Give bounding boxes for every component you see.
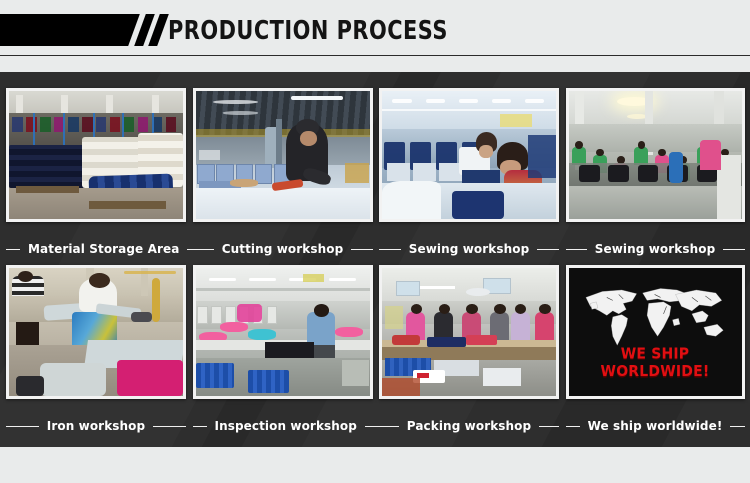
photo-detail: [249, 278, 275, 281]
photo-detail: [265, 342, 314, 357]
photo-caption: Inspection workshop: [193, 415, 373, 437]
caption-rule-right: [730, 426, 744, 427]
caption-rule-left: [379, 426, 399, 427]
photo-detail: [16, 376, 44, 396]
caption-rule-right: [723, 249, 744, 250]
gallery-cell[interactable]: Sewing workshop: [566, 88, 745, 262]
gallery-cell[interactable]: Packing workshop: [379, 265, 559, 439]
photo-detail: [426, 99, 445, 103]
photo-detail: [196, 188, 370, 219]
caption-rule-right: [351, 249, 372, 250]
photo-detail: [12, 117, 22, 132]
caption-label-cutting-workshop: Cutting workshop: [222, 242, 344, 256]
photo-detail: [196, 129, 370, 137]
caption-label-packing-workshop: Packing workshop: [407, 419, 531, 433]
caption-label-material-storage-area: Material Storage Area: [28, 242, 179, 256]
photo-detail: [466, 335, 497, 345]
photo-detail: [396, 281, 420, 296]
page-header: PRODUCTION PROCESS: [0, 0, 750, 56]
photo-scene: [9, 91, 183, 219]
photo-caption: Sewing workshop: [566, 238, 745, 260]
photo-detail: [230, 179, 258, 187]
photo-detail: [131, 312, 152, 322]
process-photo-material-storage-area[interactable]: [6, 88, 186, 222]
photo-detail: [329, 278, 355, 281]
photo-caption: We ship worldwide!: [566, 415, 745, 437]
photo-detail: [209, 278, 235, 281]
photo-scene: [569, 91, 742, 219]
gallery-panel: Material Storage AreaCutting workshopSew…: [0, 72, 750, 447]
caption-rule-right: [365, 426, 379, 427]
photo-detail: [124, 117, 134, 132]
photo-detail: [314, 304, 330, 317]
caption-rule-left: [6, 249, 20, 250]
photo-detail: [483, 368, 521, 386]
photo-detail: [342, 360, 370, 386]
photo-scene: [196, 268, 370, 396]
photo-canvas: WE SHIP WORLDWIDE!: [569, 268, 742, 396]
process-gallery-grid: Material Storage AreaCutting workshopSew…: [0, 72, 750, 447]
photo-detail: [452, 191, 504, 219]
photo-detail: [166, 117, 176, 132]
caption-rule-right: [537, 249, 559, 250]
photo-detail: [220, 322, 248, 332]
photo-canvas: [9, 268, 183, 396]
photo-scene: [382, 268, 556, 396]
photo-detail: [535, 312, 554, 343]
photo-detail: [335, 327, 363, 337]
photo-detail: [382, 181, 441, 219]
page-title: PRODUCTION PROCESS: [168, 12, 448, 52]
photo-detail: [223, 111, 258, 114]
photo-detail: [303, 274, 324, 282]
photo-detail: [345, 163, 369, 183]
photo-detail: [152, 278, 161, 322]
ship-worldwide-text: WE SHIP WORLDWIDE!: [569, 346, 742, 381]
photo-detail: [479, 145, 493, 158]
process-photo-iron-workshop[interactable]: [6, 265, 186, 399]
photo-detail: [387, 163, 410, 181]
caption-rule-left: [566, 426, 580, 427]
photo-canvas: [569, 91, 742, 219]
photo-detail: [411, 304, 422, 314]
photo-detail: [124, 271, 176, 275]
photo-detail: [494, 304, 505, 314]
photo-detail: [237, 304, 261, 322]
photo-detail: [16, 186, 79, 194]
process-photo-we-ship-worldwide[interactable]: WE SHIP WORLDWIDE!: [566, 265, 745, 399]
photo-detail: [89, 201, 166, 209]
photo-detail: [392, 335, 420, 345]
photo-detail: [248, 329, 276, 339]
photo-caption: Packing workshop: [379, 415, 559, 437]
photo-detail: [96, 117, 106, 132]
photo-detail: [300, 131, 317, 146]
caption-label-sewing-workshop-2: Sewing workshop: [595, 242, 716, 256]
photo-caption: Iron workshop: [6, 415, 186, 437]
header-accent-bar: [0, 14, 140, 46]
photo-canvas: [382, 268, 556, 396]
process-photo-packing-workshop[interactable]: [379, 265, 559, 399]
photo-detail: [669, 152, 683, 183]
photo-detail: [196, 137, 370, 165]
photo-detail: [196, 363, 234, 389]
photo-detail: [382, 109, 556, 112]
photo-scene: [382, 91, 556, 219]
photo-detail: [138, 117, 148, 132]
photo-detail: [196, 288, 370, 290]
caption-rule-left: [566, 249, 587, 250]
gallery-cell[interactable]: Inspection workshop: [193, 265, 373, 439]
photo-detail: [528, 135, 556, 179]
photo-detail: [213, 100, 258, 104]
photo-detail: [68, 117, 78, 132]
photo-detail: [539, 304, 550, 314]
photo-detail: [385, 306, 402, 329]
photo-detail: [638, 141, 646, 149]
gallery-cell[interactable]: Sewing workshop: [379, 88, 559, 262]
photo-detail: [413, 163, 436, 181]
photo-detail: [420, 286, 455, 289]
process-photo-sewing-workshop-1[interactable]: [379, 88, 559, 222]
photo-canvas: [196, 91, 370, 219]
photo-detail: [197, 306, 207, 324]
caption-rule-left: [379, 249, 401, 250]
photo-caption: Sewing workshop: [379, 238, 559, 260]
photo-detail: [291, 96, 343, 100]
photo-detail: [608, 165, 629, 182]
production-process-page: PRODUCTION PROCESS Material Storage Area…: [0, 0, 750, 483]
caption-label-iron-workshop: Iron workshop: [47, 419, 145, 433]
caption-label-inspection-workshop: Inspection workshop: [215, 419, 357, 433]
process-photo-cutting-workshop[interactable]: [193, 88, 373, 222]
world-map-icon: [575, 281, 734, 353]
photo-canvas: [196, 268, 370, 396]
caption-rule-right: [153, 426, 186, 427]
photo-detail: [267, 306, 277, 324]
photo-detail: [382, 378, 420, 396]
photo-caption: Cutting workshop: [193, 238, 373, 260]
photo-detail: [500, 114, 531, 127]
process-photo-inspection-workshop[interactable]: [193, 265, 373, 399]
photo-detail: [40, 363, 106, 396]
photo-detail: [700, 140, 721, 171]
photo-detail: [40, 117, 50, 132]
photo-detail: [459, 99, 478, 103]
process-photo-sewing-workshop-2[interactable]: [566, 88, 745, 222]
caption-label-sewing-workshop-1: Sewing workshop: [409, 242, 530, 256]
photo-detail: [302, 166, 332, 187]
photo-detail: [492, 99, 511, 103]
photo-scene: WE SHIP WORLDWIDE!: [569, 268, 742, 396]
gallery-cell[interactable]: Iron workshop: [6, 265, 186, 439]
photo-detail: [462, 170, 500, 183]
photo-detail: [439, 304, 450, 314]
caption-rule-left: [193, 249, 214, 250]
photo-detail: [596, 149, 604, 157]
header-divider: [0, 55, 750, 56]
photo-detail: [199, 150, 220, 160]
photo-detail: [110, 117, 120, 132]
photo-detail: [392, 99, 411, 103]
photo-detail: [196, 268, 370, 301]
gallery-cell[interactable]: Material Storage Area: [6, 88, 186, 262]
photo-scene: [9, 268, 183, 396]
photo-detail: [248, 370, 290, 393]
caption-rule-left: [193, 426, 207, 427]
photo-canvas: [382, 91, 556, 219]
photo-scene: [196, 91, 370, 219]
caption-rule-left: [6, 426, 39, 427]
photo-detail: [638, 165, 659, 182]
caption-label-we-ship-worldwide: We ship worldwide!: [588, 419, 723, 433]
photo-detail: [575, 141, 583, 149]
photo-detail: [82, 117, 92, 132]
photo-detail: [579, 165, 600, 182]
photo-detail: [117, 360, 183, 396]
photo-detail: [196, 91, 370, 135]
photo-detail: [569, 186, 742, 219]
gallery-cell[interactable]: Cutting workshop: [193, 88, 373, 262]
photo-detail: [211, 306, 221, 324]
photo-caption: Material Storage Area: [6, 238, 186, 260]
photo-canvas: [9, 91, 183, 219]
photo-detail: [466, 304, 477, 314]
photo-detail: [511, 312, 530, 343]
caption-rule-right: [539, 426, 559, 427]
photo-detail: [717, 155, 741, 219]
gallery-cell[interactable]: WE SHIP WORLDWIDE!We ship worldwide!: [566, 265, 745, 439]
photo-detail: [525, 99, 544, 103]
photo-detail: [427, 337, 465, 347]
